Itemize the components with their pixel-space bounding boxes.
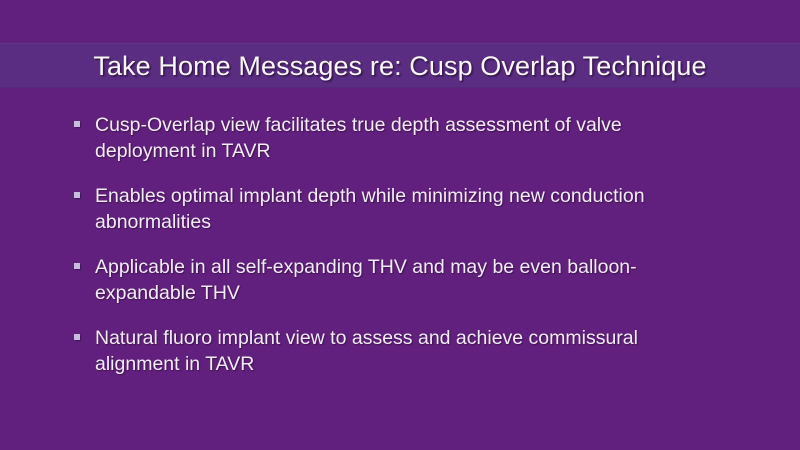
small-square-bullet-icon (74, 263, 80, 269)
list-item: Applicable in all self-expanding THV and… (72, 254, 692, 306)
small-square-bullet-icon (74, 192, 80, 198)
slide-canvas: Take Home Messages re: Cusp Overlap Tech… (0, 0, 800, 450)
list-item: Natural fluoro implant view to assess an… (72, 325, 692, 377)
small-square-bullet-icon (74, 334, 80, 340)
list-item-text: Cusp-Overlap view facilitates true depth… (95, 112, 692, 164)
list-item: Cusp-Overlap view facilitates true depth… (72, 112, 692, 164)
small-square-bullet-icon (74, 121, 80, 127)
list-item: Enables optimal implant depth while mini… (72, 183, 692, 235)
bullet-list: Cusp-Overlap view facilitates true depth… (72, 112, 692, 377)
page-title: Take Home Messages re: Cusp Overlap Tech… (0, 44, 800, 88)
list-item-text: Natural fluoro implant view to assess an… (95, 325, 692, 377)
list-item-text: Enables optimal implant depth while mini… (95, 183, 692, 235)
list-item-text: Applicable in all self-expanding THV and… (95, 254, 692, 306)
